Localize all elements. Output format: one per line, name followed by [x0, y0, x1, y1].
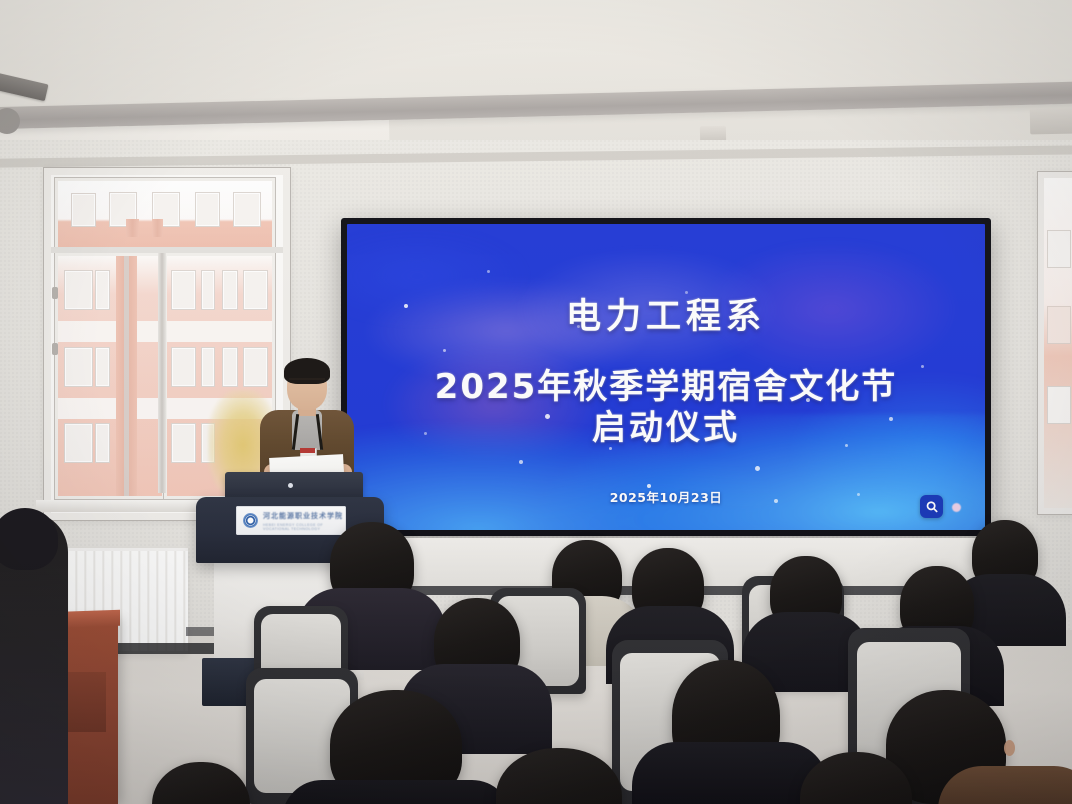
ear — [1004, 740, 1015, 756]
speaker-person — [258, 352, 356, 492]
window-rail — [51, 247, 283, 253]
seated-person-left-hair — [0, 508, 58, 570]
photo-scene: 电力工程系 2025年秋季学期宿舍文化节 启动仪式 2025年10月23日 — [0, 0, 1072, 804]
glow-particle — [952, 503, 961, 512]
id-badge-header — [300, 448, 315, 453]
led-screen-surface: 电力工程系 2025年秋季学期宿舍文化节 启动仪式 2025年10月23日 — [347, 224, 985, 530]
audience-shoulders — [632, 742, 828, 804]
audience-shoulders — [938, 766, 1072, 804]
window-right — [1038, 172, 1072, 514]
air-vent — [1030, 108, 1072, 135]
screen-date: 2025年10月23日 — [347, 487, 985, 506]
podium-plaque-cn: 河北能源职业技术学院 — [263, 511, 346, 521]
window-pane-transom — [55, 178, 275, 252]
led-display[interactable]: 电力工程系 2025年秋季学期宿舍文化节 启动仪式 2025年10月23日 — [341, 218, 991, 536]
glasses-icon — [289, 378, 325, 388]
school-emblem-icon — [243, 513, 258, 528]
window-left — [44, 168, 290, 520]
screen-event-line2: 启动仪式 — [347, 400, 985, 449]
podium-nameplate: 河北能源职业技术学院 HEBEI ENERGY COLLEGE OF VOCAT… — [236, 506, 346, 535]
microphone-led — [288, 483, 293, 488]
audience-shoulders — [282, 780, 512, 804]
window-hinge — [52, 343, 58, 355]
window-mullion — [158, 253, 166, 493]
search-icon[interactable] — [920, 495, 943, 518]
window-hinge — [52, 287, 58, 299]
podium-microphone-panel — [225, 472, 363, 500]
window-pane-left-sash[interactable] — [55, 253, 165, 499]
screen-department-title: 电力工程系 — [347, 288, 985, 339]
podium-plaque-en: HEBEI ENERGY COLLEGE OF VOCATIONAL TECHN… — [263, 523, 346, 531]
